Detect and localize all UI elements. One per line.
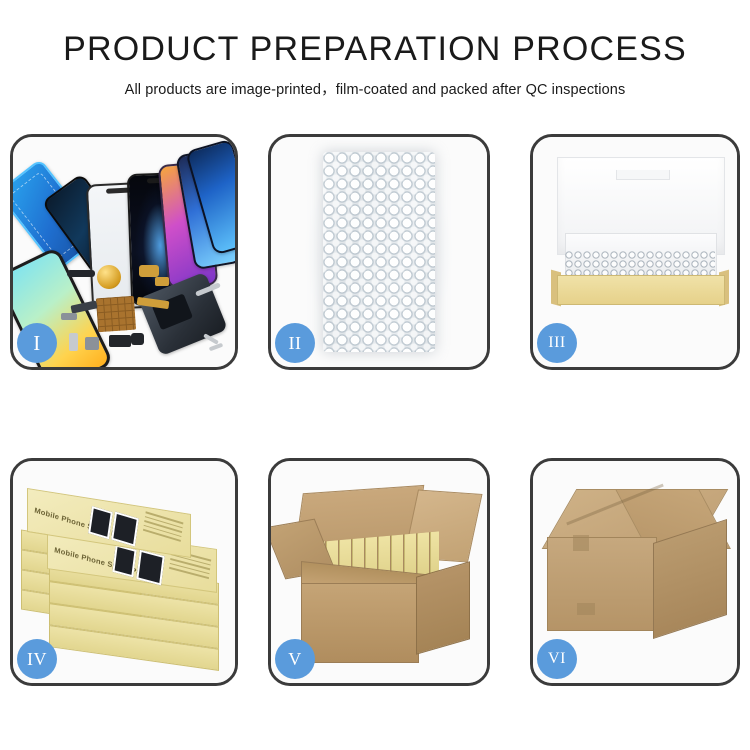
product-preparation-infographic: PRODUCT PREPARATION PROCESS All products… bbox=[0, 0, 750, 750]
logic-board-chip bbox=[96, 296, 136, 333]
box-thumb-2b bbox=[136, 550, 164, 586]
step-badge-4: IV bbox=[17, 639, 57, 679]
sealed-carton-front bbox=[547, 537, 657, 631]
panel-step-1: I bbox=[10, 134, 238, 370]
step-badge-6: VI bbox=[537, 639, 577, 679]
carton-tape-lower bbox=[577, 603, 595, 615]
step-badge-1: I bbox=[17, 323, 57, 363]
retail-box-stack: Mobile Phone Spare Parts Mobile Phone Sp… bbox=[19, 479, 225, 669]
bubble-wrap-fill bbox=[565, 251, 715, 277]
bracket-1 bbox=[61, 313, 77, 320]
panel-step-4: Mobile Phone Spare Parts Mobile Phone Sp… bbox=[10, 458, 238, 686]
small-bracket bbox=[85, 337, 99, 350]
panel-step-2: II bbox=[268, 134, 490, 370]
box-thumb-1b bbox=[111, 511, 139, 546]
step-badge-5: V bbox=[275, 639, 315, 679]
flex-cable-2 bbox=[155, 277, 169, 286]
screw-2 bbox=[209, 343, 224, 352]
header: PRODUCT PREPARATION PROCESS All products… bbox=[0, 30, 750, 99]
box-spec-lines-1 bbox=[143, 511, 184, 544]
carton-side-face bbox=[416, 561, 470, 654]
flex-cable-1 bbox=[139, 265, 159, 277]
carton-front-face bbox=[301, 583, 419, 663]
step-badge-3: III bbox=[537, 323, 577, 363]
page-subtitle: All products are image-printed，film-coat… bbox=[0, 78, 750, 99]
camera-module bbox=[109, 335, 131, 347]
vibration-motor bbox=[97, 265, 121, 289]
panel-step-6: VI bbox=[530, 458, 740, 686]
sim-tray bbox=[69, 333, 78, 351]
box-thumb-2a bbox=[112, 545, 136, 578]
process-grid: I II III bbox=[10, 134, 740, 686]
box-thumb-1a bbox=[88, 506, 113, 539]
panel-step-5: V bbox=[268, 458, 490, 686]
bubble-wrap-bundle bbox=[323, 152, 435, 352]
panel-step-3: III bbox=[530, 134, 740, 370]
white-box-front-kraft bbox=[557, 275, 725, 305]
step-badge-2: II bbox=[275, 323, 315, 363]
earpiece bbox=[131, 333, 144, 345]
speaker-part bbox=[67, 270, 95, 277]
white-box-lid-tab bbox=[616, 170, 670, 180]
carton-tape-upper bbox=[573, 535, 589, 551]
page-title: PRODUCT PREPARATION PROCESS bbox=[0, 30, 750, 69]
